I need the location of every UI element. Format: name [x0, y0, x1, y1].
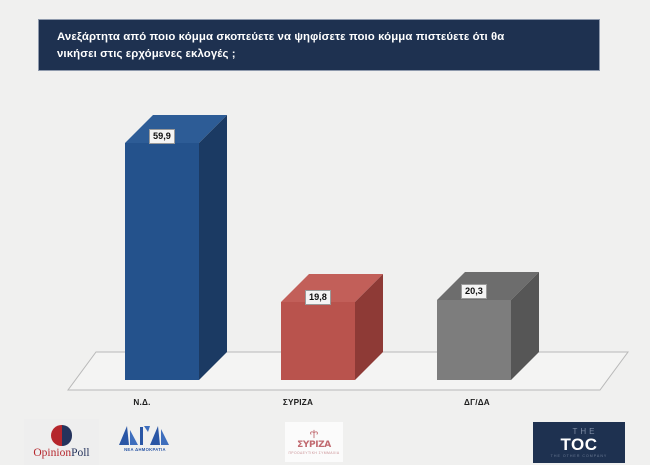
opinionpoll-wordmark: OpinionPoll [33, 447, 89, 459]
syriza-logo: ΣΥΡΙΖΑ ΠΡΟΟΔΕΥΤΙΚΗ ΣΥΜΜΑΧΙΑ [285, 422, 343, 462]
bar-group-0 [125, 115, 227, 380]
bar-chart-svg [0, 80, 650, 410]
bar-0-side [199, 115, 227, 380]
chart-plot-area [0, 80, 650, 410]
category-label-nd: Ν.Δ. [82, 398, 202, 407]
syriza-wordmark: ΣΥΡΙΖΑ [297, 440, 331, 450]
opinionpoll-logo: OpinionPoll [24, 419, 99, 465]
syriza-flower-icon [305, 429, 323, 439]
chart-title-line-1: Ανεξάρτητα από ποιο κόμμα σκοπεύετε να ψ… [57, 29, 583, 46]
bar-group-2 [437, 272, 539, 380]
thetoc-logo: THE TOC THE OTHER COMPANY [533, 422, 625, 463]
nea-dimokratia-logo: ΝΕΑ ΔΗΜΟΚΡΑΤΙΑ [110, 424, 180, 460]
chart-title-line-2: νικήσει στις ερχόμενες εκλογές ; [57, 46, 583, 63]
opinionpoll-word-2: Poll [71, 447, 90, 459]
opinionpoll-word-1: Opinion [33, 447, 71, 459]
thetoc-main-word: TOC [560, 436, 597, 453]
nd-subtitle: ΝΕΑ ΔΗΜΟΚΡΑΤΙΑ [124, 447, 166, 452]
category-label-syriza: ΣΥΡΙΖΑ [238, 398, 358, 407]
thetoc-subtitle: THE OTHER COMPANY [551, 454, 608, 458]
bar-group-1 [281, 274, 383, 380]
category-label-dg-da: ΔΓ/ΔΑ [417, 398, 537, 407]
bar-value-label-2: 20,3 [461, 284, 487, 299]
poll-chart-screenshot: Ανεξάρτητα από ποιο κόμμα σκοπεύετε να ψ… [0, 0, 650, 465]
split-circle-icon [51, 425, 72, 446]
nd-triangles-icon [117, 424, 173, 446]
chart-title-banner: Ανεξάρτητα από ποιο κόμμα σκοπεύετε να ψ… [38, 19, 600, 71]
bar-1-front [281, 302, 355, 380]
bar-value-label-1: 19,8 [305, 290, 331, 305]
syriza-subtitle: ΠΡΟΟΔΕΥΤΙΚΗ ΣΥΜΜΑΧΙΑ [288, 451, 339, 455]
bar-2-front [437, 300, 511, 380]
bar-value-label-0: 59,9 [149, 129, 175, 144]
bar-0-front [125, 143, 199, 380]
footer-logos: OpinionPoll ΝΕΑ ΔΗΜΟΚΡΑΤΙΑ ΣΥΡΙΖΑ ΠΡΟΟΔΕ… [0, 410, 650, 465]
